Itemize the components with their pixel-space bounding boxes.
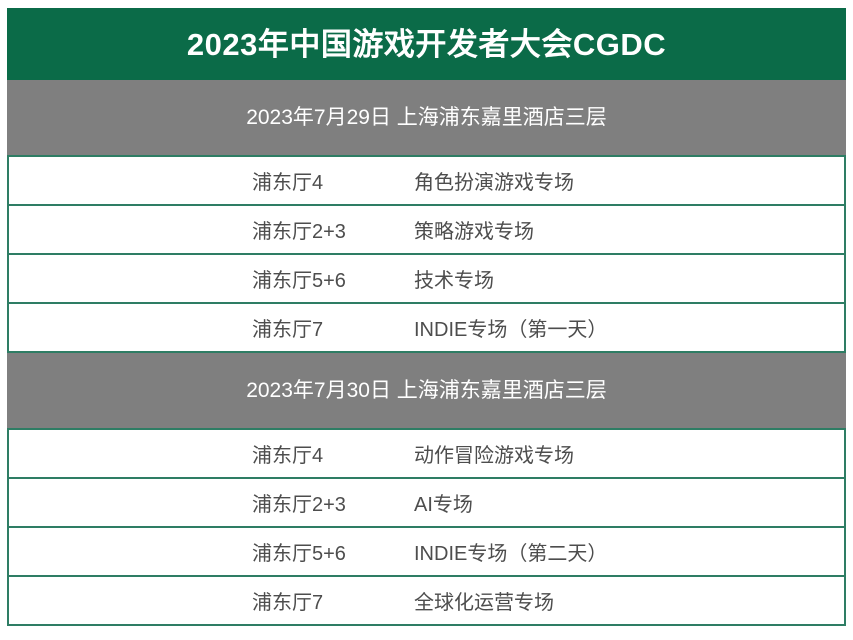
session-group-day-1: 浦东厅4 角色扮演游戏专场 浦东厅2+3 策略游戏专场 浦东厅5+6 技术专场 … [7,155,846,353]
track-cell: INDIE专场（第二天） [261,537,844,566]
room-cell: 浦东厅2+3 [9,488,261,517]
table-row[interactable]: 浦东厅2+3 策略游戏专场 [9,204,844,253]
room-cell: 浦东厅4 [9,166,261,195]
day-header-1: 2023年7月29日 上海浦东嘉里酒店三层 [7,80,846,155]
room-cell: 浦东厅2+3 [9,215,261,244]
table-row[interactable]: 浦东厅5+6 INDIE专场（第二天） [9,526,844,575]
track-cell: INDIE专场（第一天） [261,313,844,342]
conference-schedule-table: 2023年中国游戏开发者大会CGDC 2023年7月29日 上海浦东嘉里酒店三层… [7,8,846,623]
table-row[interactable]: 浦东厅4 动作冒险游戏专场 [9,428,844,477]
table-row[interactable]: 浦东厅7 INDIE专场（第一天） [9,302,844,351]
day-header-label: 2023年7月29日 上海浦东嘉里酒店三层 [246,107,607,128]
room-cell: 浦东厅5+6 [9,537,261,566]
table-row[interactable]: 浦东厅5+6 技术专场 [9,253,844,302]
track-cell: 全球化运营专场 [261,586,844,615]
room-cell: 浦东厅4 [9,439,261,468]
room-cell: 浦东厅7 [9,313,261,342]
room-cell: 浦东厅5+6 [9,264,261,293]
track-cell: AI专场 [261,488,844,517]
table-row[interactable]: 浦东厅2+3 AI专场 [9,477,844,526]
table-row[interactable]: 浦东厅7 全球化运营专场 [9,575,844,624]
track-cell: 策略游戏专场 [261,215,844,244]
day-header-label: 2023年7月30日 上海浦东嘉里酒店三层 [246,380,607,401]
track-cell: 动作冒险游戏专场 [261,439,844,468]
conference-banner: 2023年中国游戏开发者大会CGDC [7,8,846,80]
track-cell: 角色扮演游戏专场 [261,166,844,195]
session-group-day-2: 浦东厅4 动作冒险游戏专场 浦东厅2+3 AI专场 浦东厅5+6 INDIE专场… [7,428,846,626]
room-cell: 浦东厅7 [9,586,261,615]
track-cell: 技术专场 [261,264,844,293]
table-row[interactable]: 浦东厅4 角色扮演游戏专场 [9,155,844,204]
page-title: 2023年中国游戏开发者大会CGDC [187,29,666,60]
day-header-2: 2023年7月30日 上海浦东嘉里酒店三层 [7,353,846,428]
